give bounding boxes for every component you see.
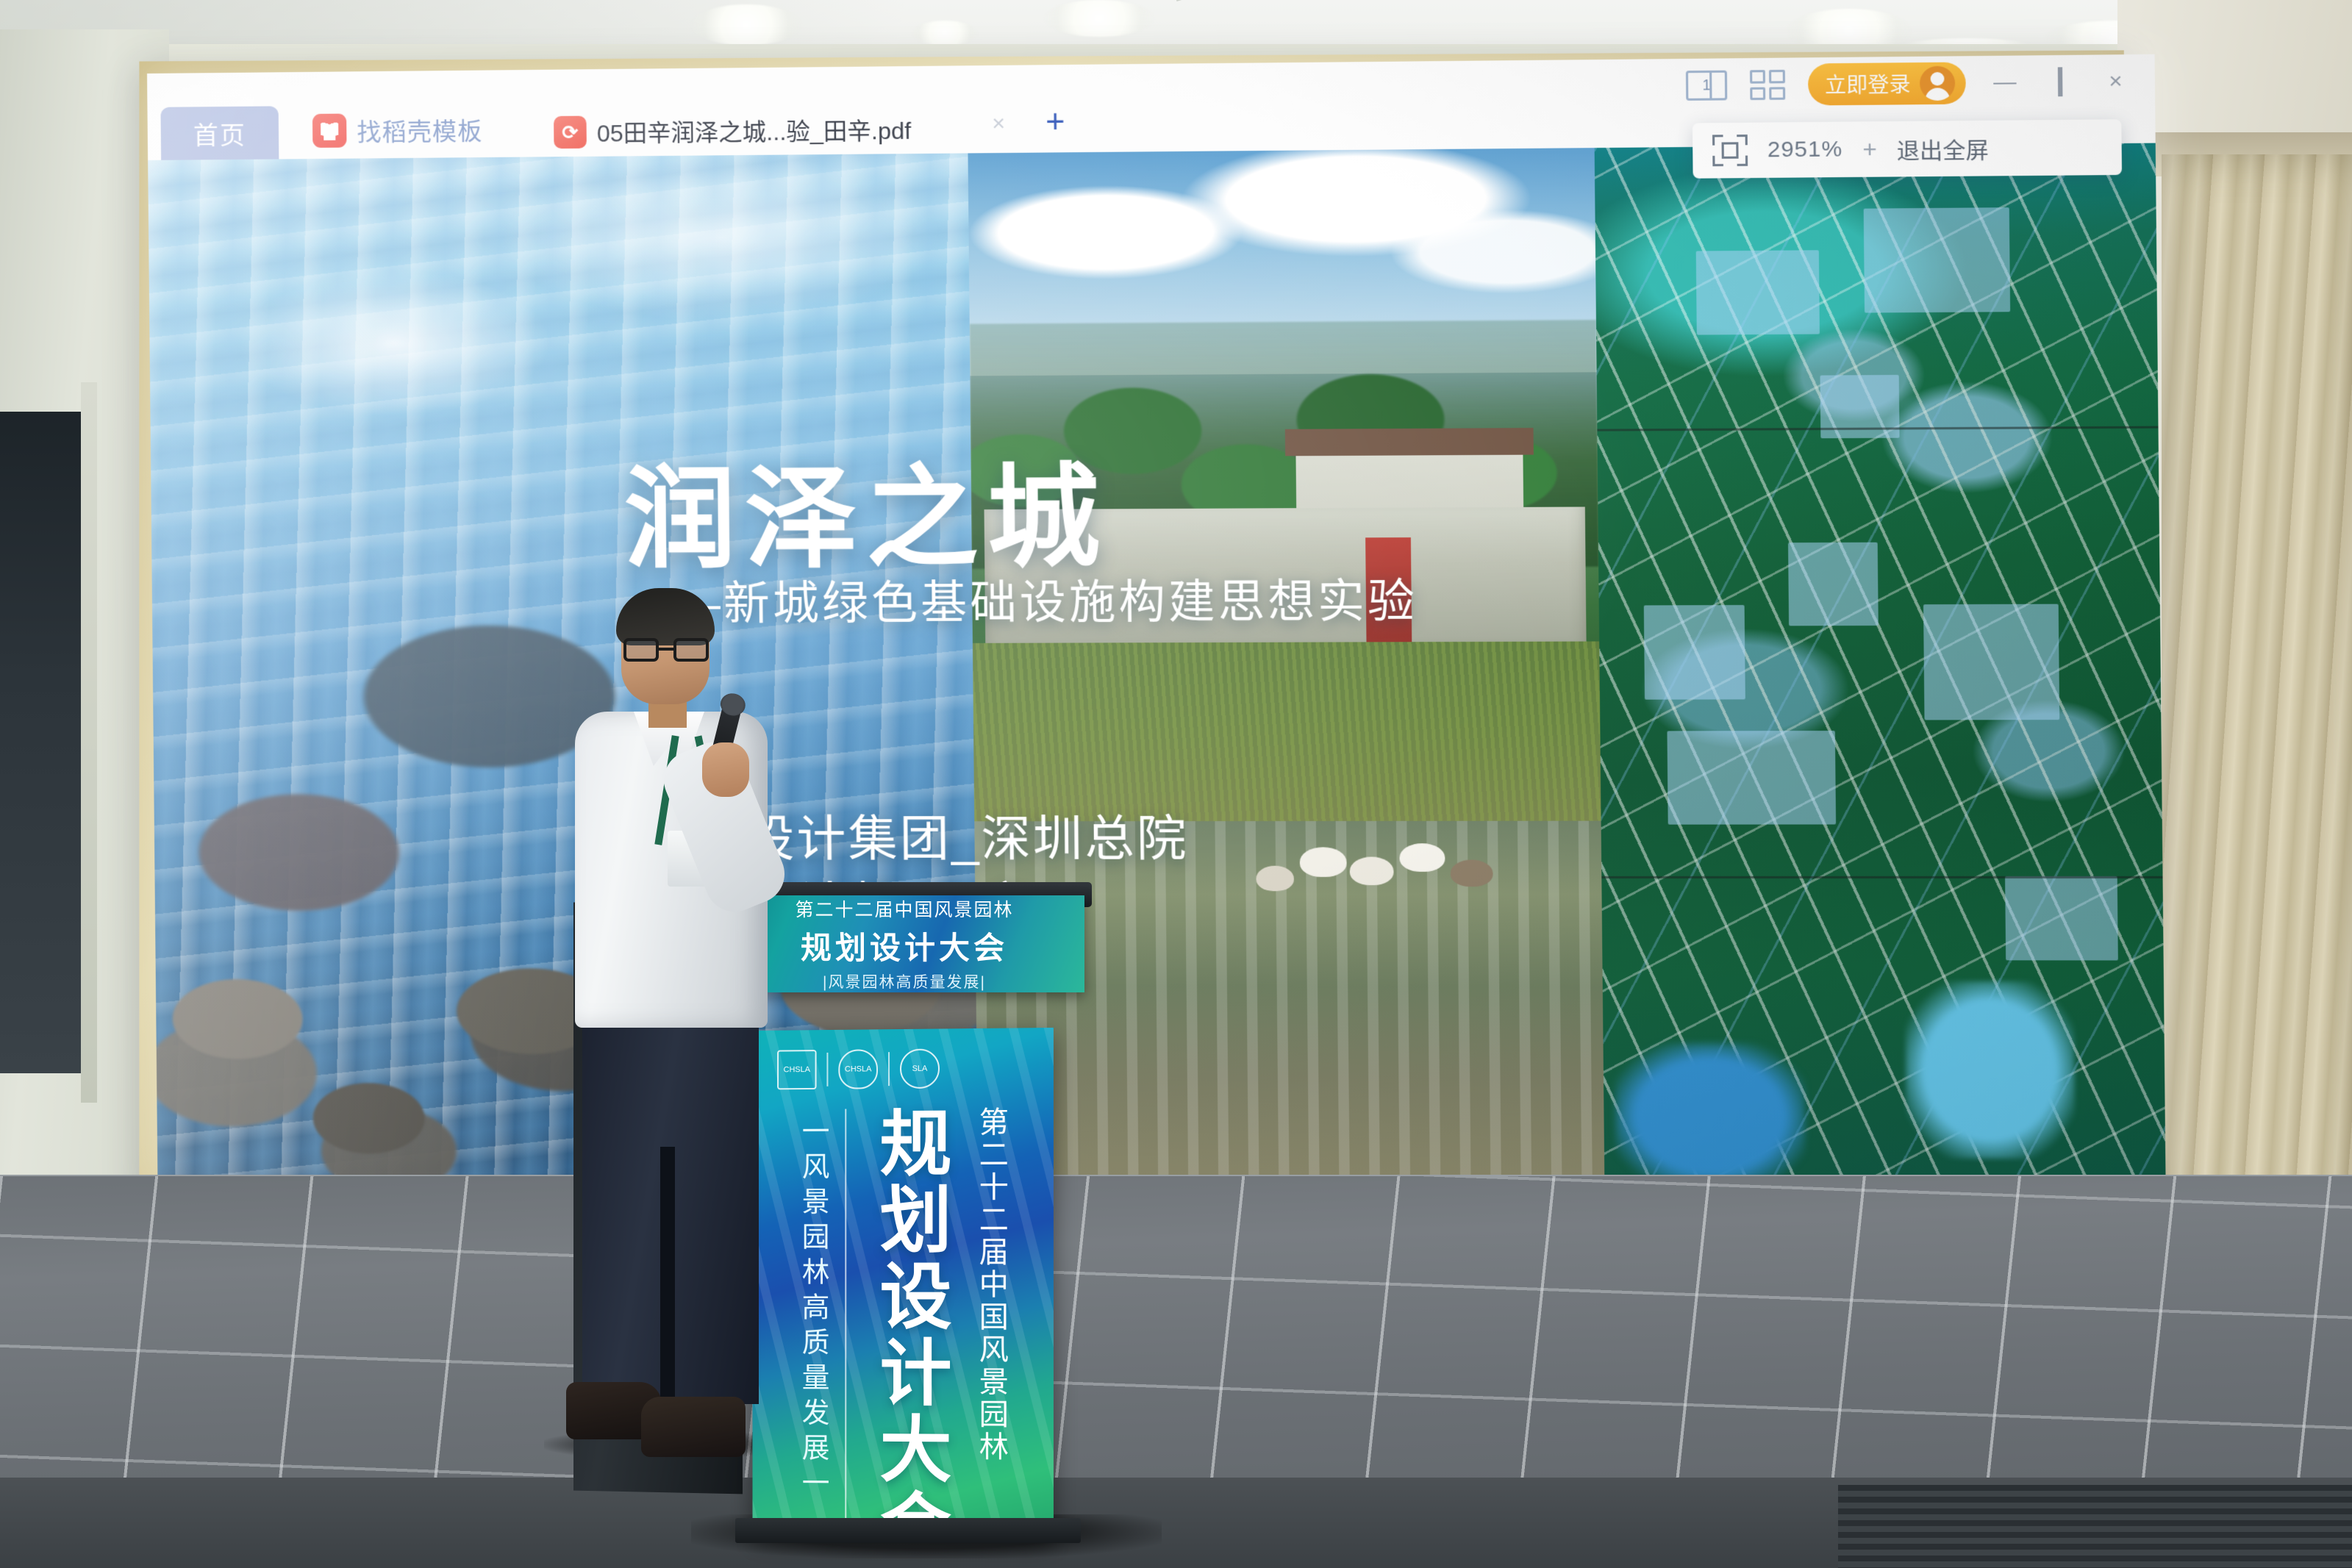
glasses-bridge	[659, 648, 673, 651]
chsla-flower-logo-icon: CHSLA	[838, 1049, 878, 1089]
login-button[interactable]: 立即登录	[1808, 62, 1966, 105]
banner-side-slogan: 一风景园林高质量发展一	[793, 1117, 833, 1504]
duck	[1450, 860, 1493, 887]
masterplan-building-blocks	[1595, 143, 2166, 1191]
building-block	[1863, 207, 2010, 313]
banner-vertical-text: 第二十二届中国风景园林 规划设计大会 一风景园林高质量发展一	[752, 1102, 1053, 1539]
zoom-level-value: 2951%	[1767, 137, 1843, 163]
podium-banner: CHSLA CHSLA SLA 第二十二届中国风景园林 规划设计大会 一风景园林…	[752, 1028, 1053, 1538]
tab-close-icon[interactable]: ×	[992, 111, 1005, 137]
tab-pdf-label: 05田辛润泽之城...验_田辛.pdf	[597, 112, 912, 149]
exit-fullscreen-button[interactable]: 退出全屏	[1897, 132, 1990, 165]
left-wall-dark-panel	[0, 412, 85, 1073]
duck	[1256, 866, 1294, 891]
masterplan-lake-west	[1615, 1043, 1806, 1189]
podium-sign-line3: |风景园林高质量发展|	[823, 970, 986, 992]
duck	[1350, 857, 1394, 886]
fit-to-window-icon[interactable]	[1712, 135, 1748, 166]
podium-base	[735, 1518, 1081, 1543]
conference-room-photo: 首页 找稻壳模板 ⟳ 05田辛润泽之城...验_田辛.pdf × + 1	[0, 0, 2352, 1568]
building-block	[1788, 543, 1879, 626]
docer-button-label: 找稻壳模板	[357, 112, 482, 148]
tab-home[interactable]: 首页	[160, 106, 279, 160]
ceiling-light-2	[1044, 0, 1154, 37]
duck	[1400, 843, 1445, 872]
presenter-glasses	[623, 638, 709, 663]
grid-cell	[1750, 87, 1765, 100]
grid-cell	[1769, 70, 1784, 83]
grid-cell	[1750, 70, 1765, 83]
logo-divider	[826, 1053, 828, 1086]
logo-divider	[888, 1052, 890, 1086]
village-pond-photo	[968, 148, 1604, 1189]
window-controls: 1 立即登录 — ×	[1686, 60, 2132, 107]
presenter-leg-gap	[660, 1147, 675, 1404]
zoom-toolbar: 2951% + 退出全屏	[1692, 119, 2122, 179]
presenter-right-shoe	[641, 1397, 746, 1457]
aerial-masterplan-photo	[1595, 143, 2166, 1191]
glasses-lens-right	[673, 638, 709, 662]
podium-sign-line1: 第二十二届中国风景园林	[795, 895, 1013, 922]
tab-pdf-document[interactable]: ⟳ 05田辛润泽之城...验_田辛.pdf	[554, 112, 911, 150]
banner-prefix: 第二十二届中国风景园林	[970, 1106, 1012, 1464]
sla-sun-logo-icon: SLA	[900, 1049, 940, 1089]
podium-sign-line2: 规划设计大会	[801, 923, 1008, 968]
building-block	[1696, 250, 1820, 334]
login-button-label: 立即登录	[1825, 68, 1911, 99]
single-page-view-icon[interactable]: 1	[1686, 71, 1727, 101]
maximize-button[interactable]	[2044, 69, 2076, 95]
building-block	[2005, 876, 2118, 960]
masterplan-lake-east	[1905, 981, 2076, 1159]
grid-view-icon[interactable]	[1750, 70, 1785, 100]
docer-logo-icon	[312, 114, 347, 148]
banner-logo-row: CHSLA CHSLA SLA	[777, 1045, 953, 1093]
minimize-button[interactable]: —	[1989, 70, 2021, 96]
banner-main-title: 规划设计大会	[858, 1105, 962, 1538]
fit-center	[1722, 142, 1739, 159]
podium-nameplate: 第二十二届中国风景园林 规划设计大会 |风景园林高质量发展|	[724, 895, 1084, 992]
building-block	[1667, 730, 1836, 824]
close-button[interactable]: ×	[2099, 69, 2131, 95]
banner-divider-rule	[845, 1109, 846, 1520]
pdf-file-icon: ⟳	[554, 116, 587, 149]
pdf-slide-page: 润泽之城 ——新城绿色基础设施构建思想实验 岭南设计集团_深圳总院 首席设计师_…	[148, 143, 2166, 1191]
maximize-icon	[2058, 67, 2063, 96]
floor-grate	[1838, 1485, 2352, 1568]
fit-corner	[1737, 156, 1748, 166]
left-wall-trim	[81, 382, 97, 1103]
zoom-in-button[interactable]: +	[1862, 135, 1877, 163]
new-tab-button[interactable]: +	[1045, 104, 1065, 141]
duck	[1299, 847, 1346, 877]
building-block	[1923, 604, 2059, 720]
building-block	[1643, 605, 1745, 699]
ceiling-light-1	[691, 4, 801, 46]
user-avatar-icon	[1920, 66, 1955, 101]
chsla-logo-icon: CHSLA	[777, 1050, 816, 1089]
projection-screen: 首页 找稻壳模板 ⟳ 05田辛润泽之城...验_田辛.pdf × + 1	[147, 54, 2166, 1191]
ceiling-light-6	[912, 21, 978, 46]
glasses-lens-left	[623, 638, 659, 662]
slide-subtitle: ——新城绿色基础设施构建思想实验	[625, 564, 1418, 634]
presenter-hand	[702, 742, 749, 797]
grid-cell	[1770, 87, 1785, 100]
docer-template-button[interactable]: 找稻壳模板	[312, 112, 483, 148]
tab-home-label: 首页	[193, 115, 247, 151]
masterplan-seam	[1601, 876, 2162, 878]
